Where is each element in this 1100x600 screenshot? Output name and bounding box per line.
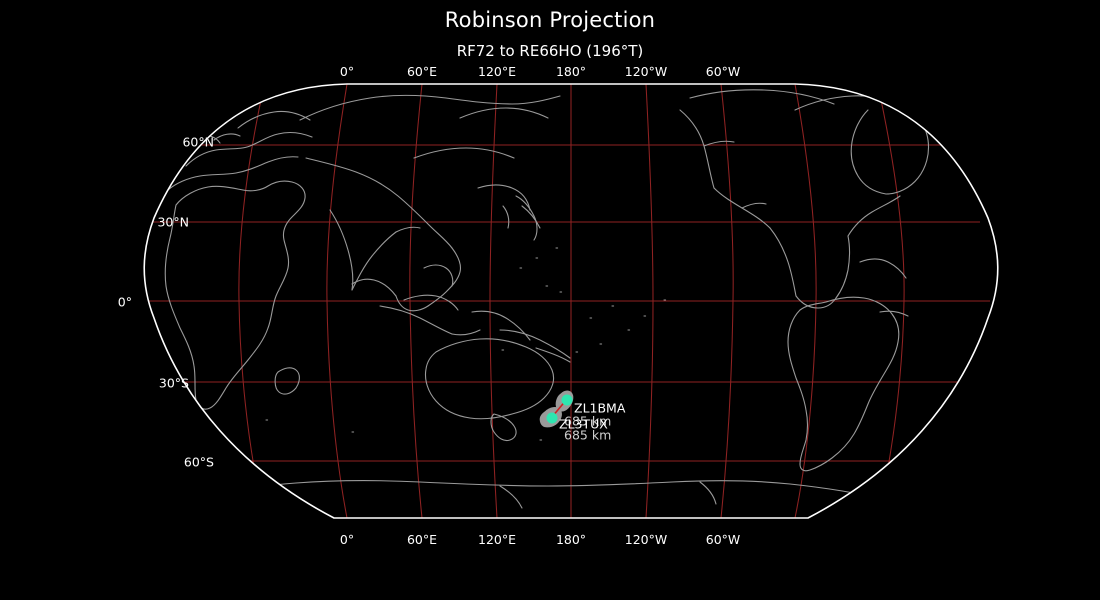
lon-tick-bottom-0: 0°	[340, 532, 354, 547]
lon-tick-top-120W: 120°W	[625, 64, 667, 79]
lat-tick-30N: 30°N	[157, 215, 189, 230]
lat-tick-30S: 30°S	[159, 376, 189, 391]
world-map[interactable]: 0° 60°E 120°E 180° 120°W 60°W 0° 60°E 12…	[0, 0, 1100, 600]
path-distance-label: 685 km	[564, 428, 611, 443]
lon-tick-top-180: 180°	[556, 64, 586, 79]
lon-tick-top-0: 0°	[340, 64, 354, 79]
lon-tick-bottom-120W: 120°W	[625, 532, 667, 547]
lon-tick-top-120E: 120°E	[478, 64, 516, 79]
lon-tick-bottom-120E: 120°E	[478, 532, 516, 547]
lon-tick-bottom-180: 180°	[556, 532, 586, 547]
lat-tick-60S: 60°S	[184, 455, 214, 470]
lat-tick-60N: 60°N	[182, 135, 214, 150]
map-canvas	[0, 0, 1100, 600]
lon-tick-bottom-60W: 60°W	[706, 532, 741, 547]
station-marker-zl3tux[interactable]	[547, 413, 558, 424]
lat-tick-0: 0°	[118, 295, 132, 310]
lon-tick-bottom-60E: 60°E	[407, 532, 437, 547]
lon-tick-top-60W: 60°W	[706, 64, 741, 79]
map-figure-root: Robinson Projection RF72 to RE66HO (196°…	[0, 0, 1100, 600]
lon-tick-top-60E: 60°E	[407, 64, 437, 79]
station-marker-zl1bma[interactable]	[562, 395, 573, 406]
